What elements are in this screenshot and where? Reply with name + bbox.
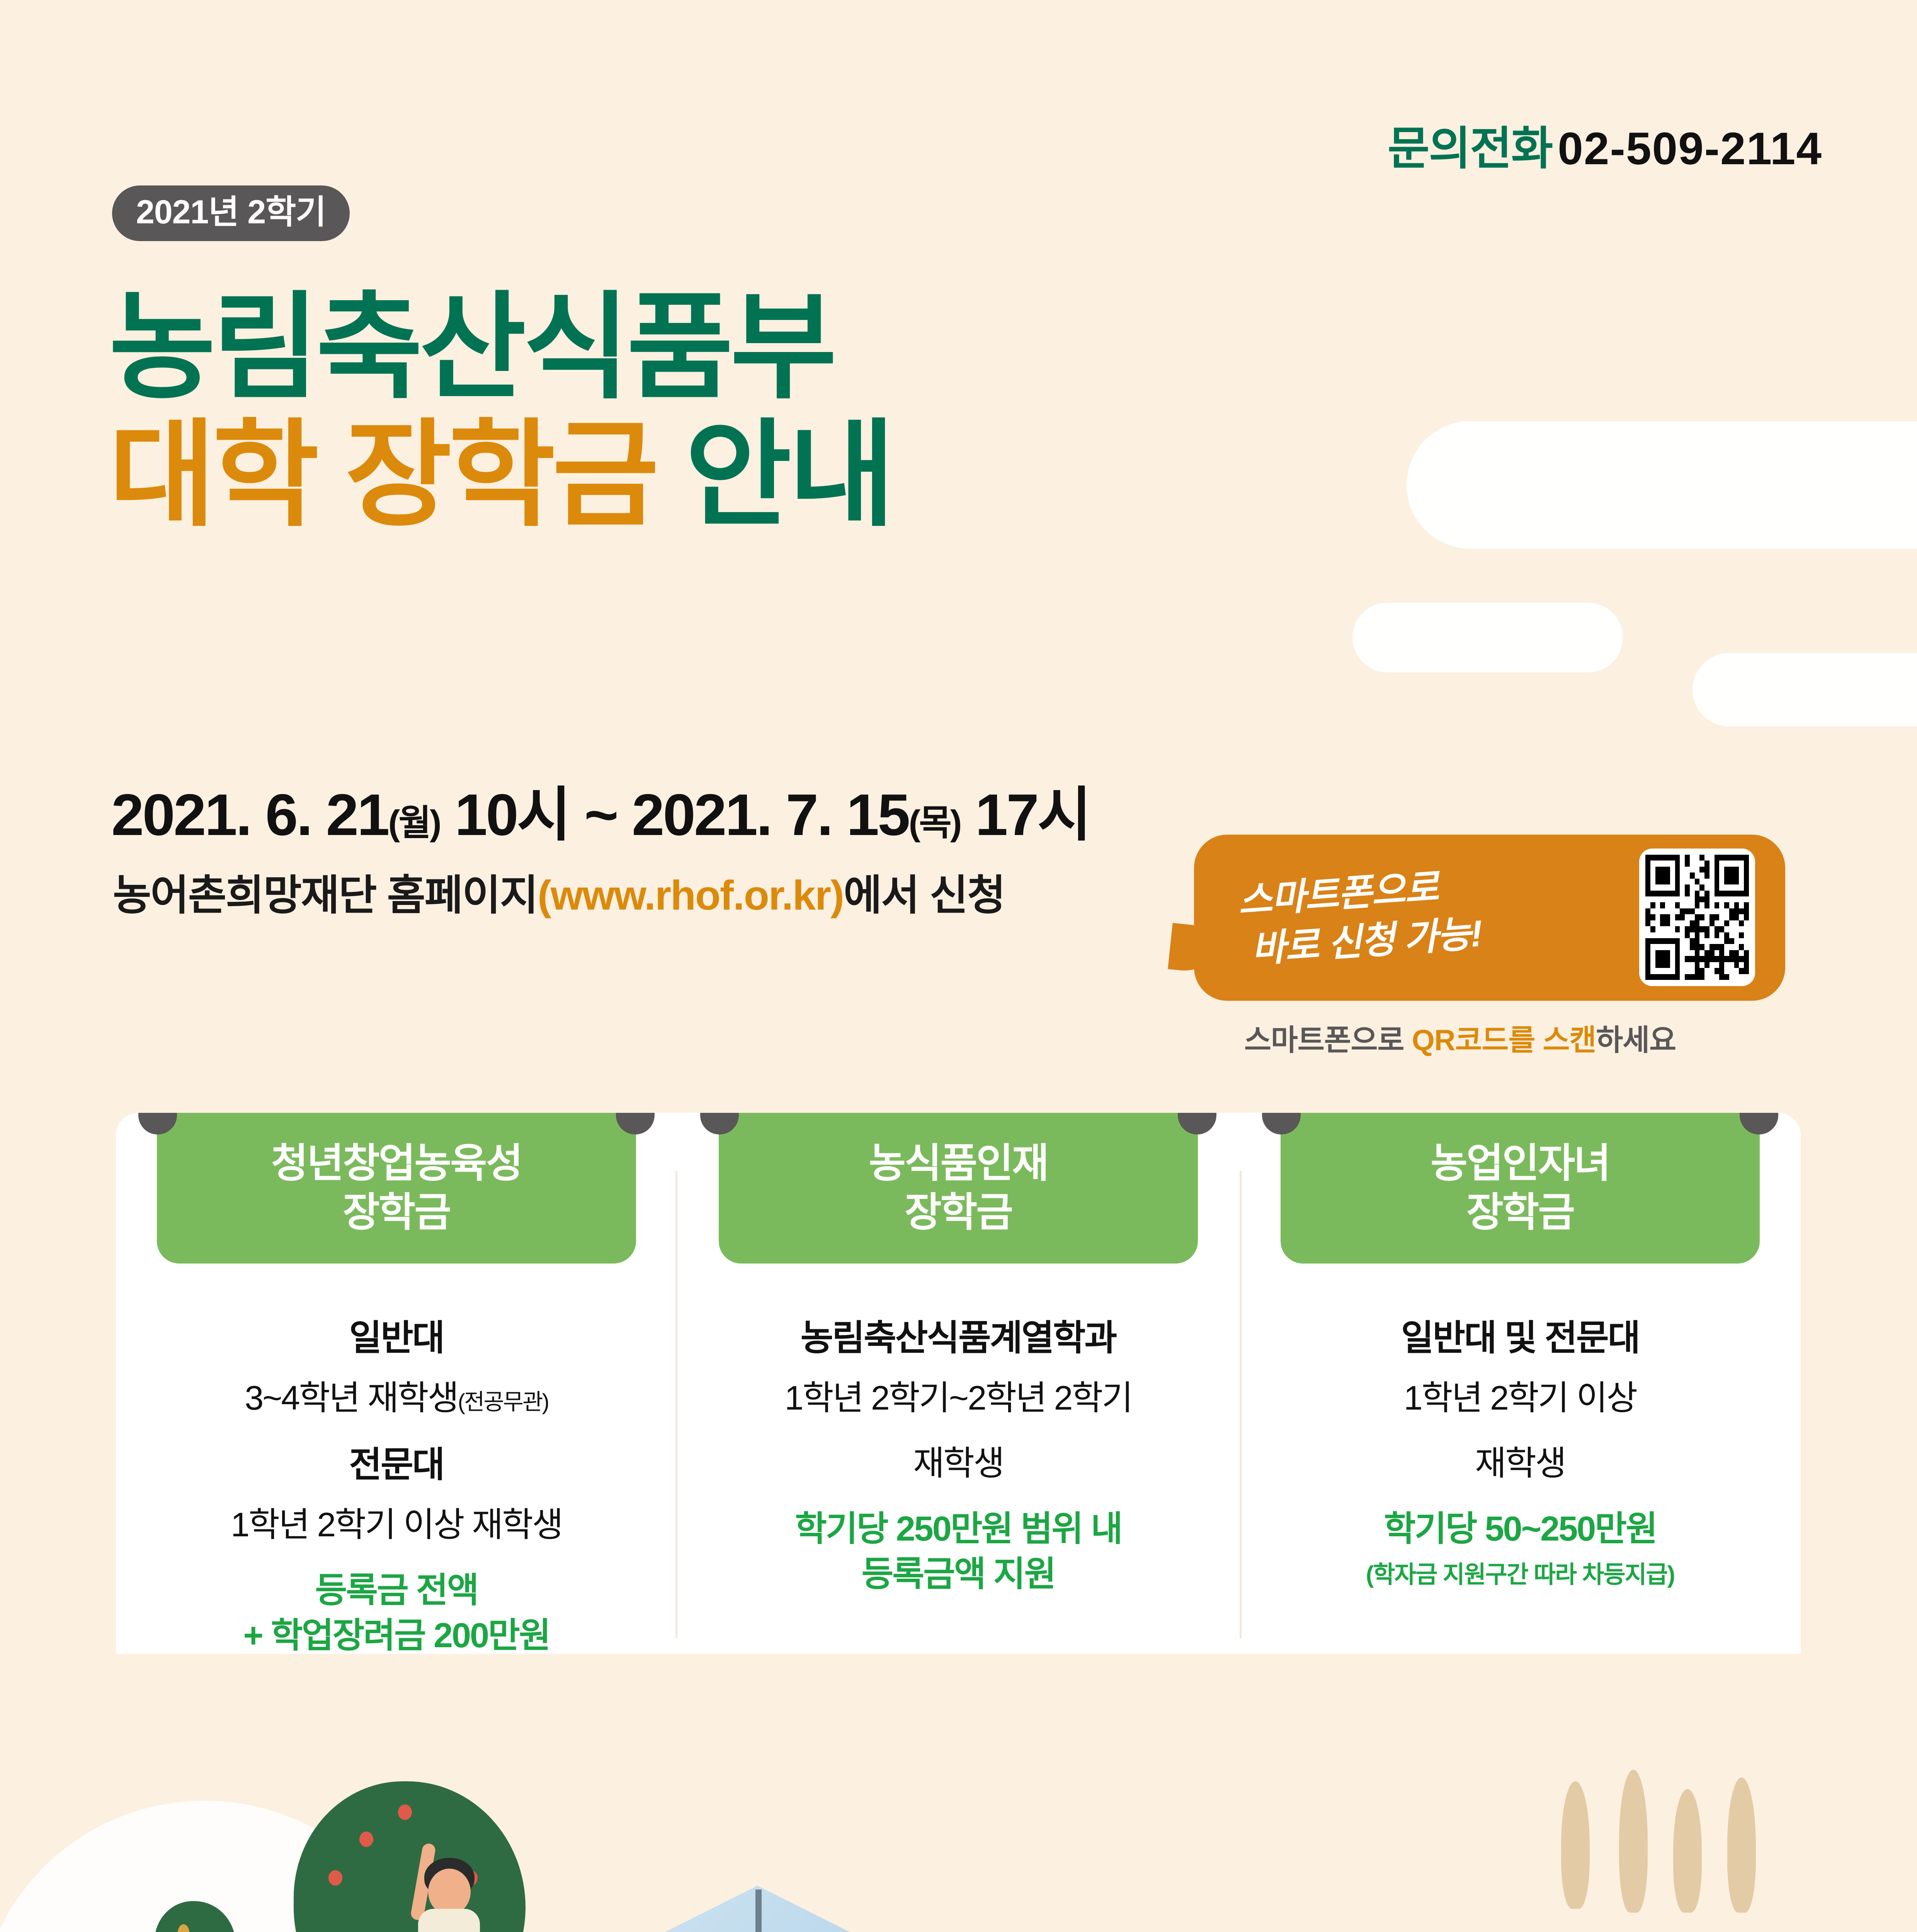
phone-label: 문의전화 (1388, 123, 1552, 174)
qr-caption-bold: QR코드를 스캔 (1412, 1024, 1596, 1057)
apple-icon (398, 1804, 412, 1820)
card-eligibility: 일반대 및 전문대 1학년 2학기 이상 재학생 (1263, 1309, 1778, 1485)
qr-bubble-line2: 바로 신청 가능! (1250, 909, 1484, 974)
card-body: 일반대 3~4학년 재학생(전공무관) 전문대 1학년 2학기 이상 재학생 등… (116, 1264, 677, 1658)
title-guide-text: 안내 (685, 410, 892, 540)
phone-number: 02-509-2114 (1558, 123, 1822, 174)
poplar-tree (1727, 1777, 1756, 1913)
card-title: 청년창업농육성 장학금 (271, 1139, 522, 1237)
card-amount: 학기당 50~250만원 (학자금 지원구간 따라 차등지급) (1263, 1507, 1778, 1590)
period-end-date: 2021. 7. 15 (632, 782, 909, 848)
qr-speech-bubble: 스마트폰으로 바로 신청 가능! (1194, 835, 1785, 1001)
amount-line-1: 학기당 250만원 범위 내 (701, 1507, 1216, 1552)
semester-badge: 2021년 2학기 (112, 185, 350, 241)
card-amount: 등록금 전액 + 학업장려금 200만원 (139, 1568, 654, 1658)
card-header: 청년창업농육성 장학금 (157, 1113, 636, 1264)
qr-section: 스마트폰으로 바로 신청 가능! 스마트폰으로 QR코드를 스캔하세요 (1194, 835, 1820, 1001)
cloud-decoration (1692, 653, 1917, 726)
apply-prefix: 농어촌희망재단 홈페이지 (113, 872, 538, 918)
card-header: 농식품인재 장학금 (719, 1113, 1198, 1264)
farm-illustration (0, 1654, 1917, 1932)
card-amount: 학기당 250만원 범위 내 등록금액 지원 (701, 1507, 1216, 1597)
scholarship-card[interactable]: 농식품인재 장학금 농림축산식품계열학과 1학년 2학기~2학년 2학기 재학생… (678, 1113, 1239, 1677)
pin-icon (138, 1113, 177, 1134)
qr-bubble-text: 스마트폰으로 바로 신청 가능! (1237, 861, 1483, 975)
poplar-tree (1619, 1770, 1648, 1913)
apply-instruction: 농어촌희망재단 홈페이지(www.rhof.or.kr)에서 신청 (113, 862, 1005, 922)
card-title-line2: 장학금 (343, 1190, 450, 1235)
scholarship-cards-panel: 청년창업농육성 장학금 일반대 3~4학년 재학생(전공무관) 전문대 1학년 … (116, 1113, 1801, 1677)
qr-bubble-line1: 스마트폰으로 (1237, 867, 1439, 922)
eligibility-detail: 재학생 (701, 1436, 1216, 1485)
head (428, 1869, 471, 1915)
period-end-time: 17시 (975, 782, 1090, 848)
apple-icon (359, 1832, 373, 1847)
eligibility-detail: 재학생 (1263, 1436, 1778, 1485)
pin-icon (1740, 1113, 1778, 1134)
eligibility-heading: 일반대 (139, 1309, 654, 1361)
page-title: 농림축산식품부 대학 장학금 안내 (109, 292, 892, 531)
farmer-picking-apples (394, 1835, 495, 1932)
pin-icon (1178, 1113, 1216, 1134)
card-title-line1: 농업인자녀 (1431, 1141, 1609, 1186)
application-period: 2021. 6. 21(월) 10시 ~ 2021. 7. 15(목) 17시 (111, 767, 1090, 852)
card-eligibility: 농림축산식품계열학과 1학년 2학기~2학년 2학기 재학생 (701, 1309, 1216, 1485)
qr-caption-pre: 스마트폰으로 (1244, 1024, 1412, 1057)
contact-phone: 문의전화02-509-2114 (1388, 111, 1822, 177)
qr-caption: 스마트폰으로 QR코드를 스캔하세요 (1244, 1016, 1676, 1059)
card-body: 일반대 및 전문대 1학년 2학기 이상 재학생 학기당 50~250만원 (학… (1240, 1264, 1801, 1590)
period-end-day: (목) (909, 803, 961, 843)
amount-note: (학자금 지원구간 따라 차등지급) (1263, 1555, 1778, 1590)
card-title-line2: 장학금 (1466, 1190, 1574, 1235)
pin-icon (616, 1113, 655, 1134)
poplar-tree (1561, 1781, 1590, 1909)
apply-website-url[interactable]: (www.rhof.or.kr) (538, 872, 844, 918)
scholarship-card[interactable]: 청년창업농육성 장학금 일반대 3~4학년 재학생(전공무관) 전문대 1학년 … (116, 1113, 677, 1677)
pin-icon (700, 1113, 739, 1134)
cloud-decoration (1407, 421, 1917, 549)
card-title: 농업인자녀 장학금 (1431, 1139, 1609, 1237)
eligibility-detail: 1학년 2학기~2학년 2학기 (701, 1371, 1216, 1420)
card-title: 농식품인재 장학금 (869, 1139, 1048, 1237)
period-start-date: 2021. 6. 21 (111, 782, 388, 848)
amount-line-1: 등록금 전액 (139, 1568, 654, 1613)
qr-code-icon[interactable] (1639, 849, 1755, 986)
eligibility-heading: 농림축산식품계열학과 (701, 1309, 1216, 1361)
apply-suffix: 에서 신청 (844, 872, 1005, 918)
card-title-line1: 농식품인재 (869, 1141, 1048, 1186)
cloud-decoration (1352, 603, 1623, 672)
title-line-ministry: 농림축산식품부 (109, 292, 892, 403)
pin-icon (1262, 1113, 1301, 1134)
amount-line-2: + 학업장려금 200만원 (139, 1613, 654, 1658)
period-start-time: 10시 (455, 782, 570, 848)
card-eligibility: 일반대 3~4학년 재학생(전공무관) 전문대 1학년 2학기 이상 재학생 (139, 1309, 654, 1546)
scholarship-card[interactable]: 농업인자녀 장학금 일반대 및 전문대 1학년 2학기 이상 재학생 학기당 5… (1240, 1113, 1801, 1677)
poplar-tree (1673, 1789, 1702, 1913)
eligibility-detail: 1학년 2학기 이상 재학생 (139, 1497, 654, 1546)
period-start-day: (월) (388, 803, 440, 843)
card-title-line1: 청년창업농육성 (271, 1141, 522, 1186)
amount-line-2: 등록금액 지원 (701, 1552, 1216, 1597)
amount-line-1: 학기당 50~250만원 (1263, 1507, 1778, 1552)
card-header: 농업인자녀 장학금 (1281, 1113, 1760, 1264)
card-body: 농림축산식품계열학과 1학년 2학기~2학년 2학기 재학생 학기당 250만원… (678, 1264, 1239, 1597)
eligibility-heading: 일반대 및 전문대 (1263, 1309, 1778, 1361)
card-title-line2: 장학금 (905, 1190, 1012, 1235)
eligibility-detail: 1학년 2학기 이상 (1263, 1371, 1778, 1420)
title-line-subject: 대학 장학금 안내 (109, 419, 892, 531)
title-scholarship-text: 대학 장학금 (109, 410, 656, 540)
apple-icon (328, 1870, 342, 1886)
qr-caption-post: 하세요 (1596, 1024, 1676, 1057)
period-tilde: ~ (584, 782, 617, 848)
eligibility-heading: 전문대 (139, 1436, 654, 1487)
eligibility-detail: 3~4학년 재학생(전공무관) (139, 1371, 654, 1420)
poster-root: 문의전화02-509-2114 2021년 2학기 농림축산식품부 대학 장학금… (0, 0, 1917, 1932)
greenhouse-frame (755, 1889, 762, 1932)
greenhouse (533, 1886, 981, 1932)
torso-shirt (418, 1909, 480, 1932)
eligibility-note: (전공무관) (458, 1389, 548, 1415)
